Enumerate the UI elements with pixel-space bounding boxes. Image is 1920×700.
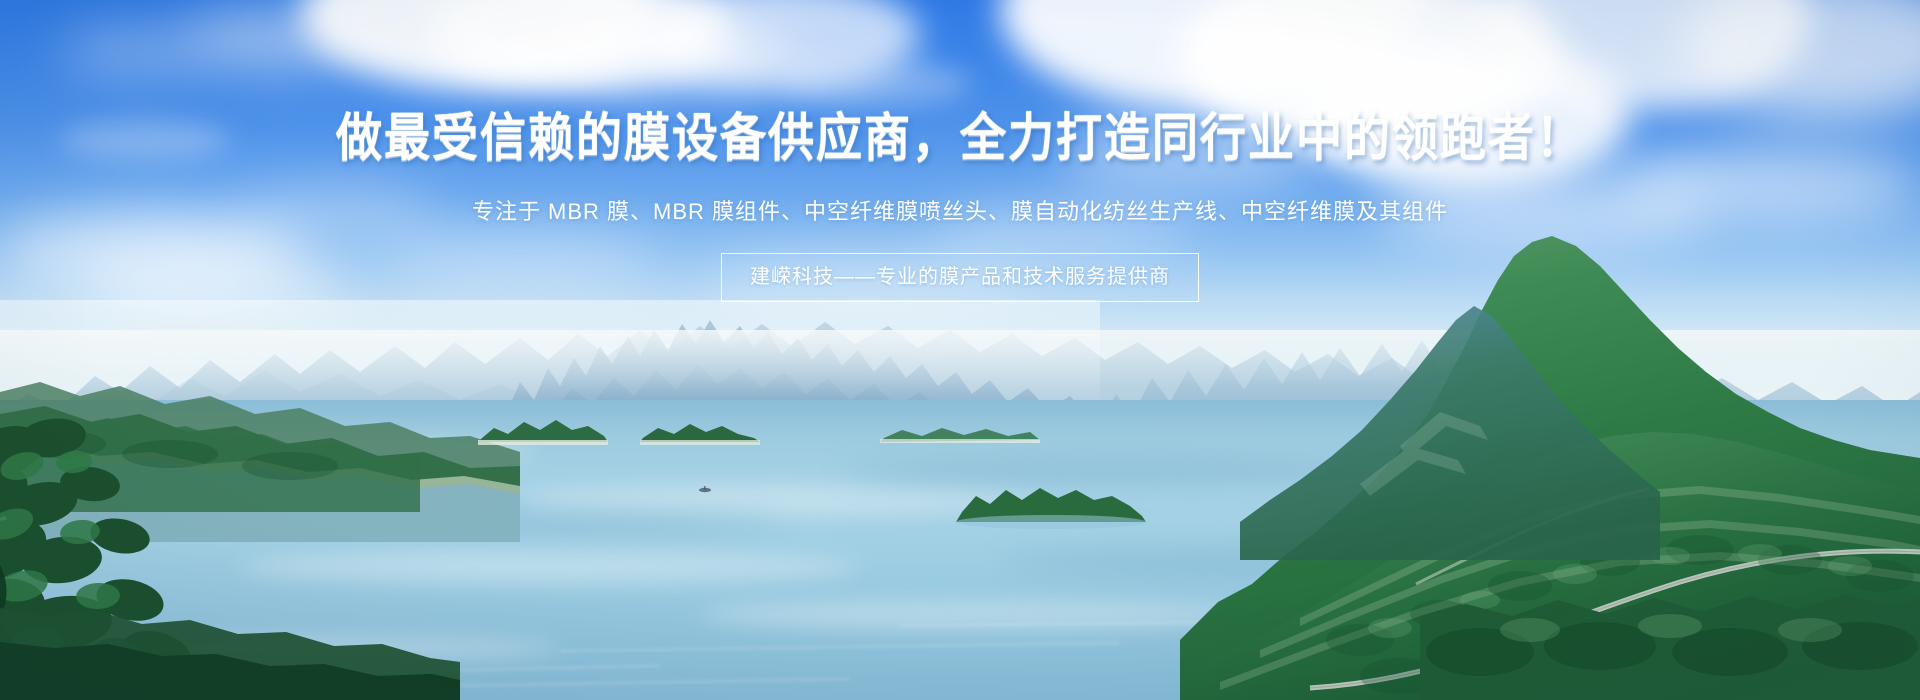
banner-headline: 做最受信赖的膜设备供应商，全力打造同行业中的领跑者！ bbox=[336, 112, 1584, 164]
water-shadow bbox=[840, 460, 1400, 486]
water-glint bbox=[240, 550, 860, 584]
lake-water bbox=[0, 400, 1920, 700]
banner-subtitle: 专注于 MBR 膜、MBR 膜组件、中空纤维膜喷丝头、膜自动化纺丝生产线、中空纤… bbox=[472, 198, 1448, 227]
water-ripple bbox=[560, 642, 1120, 652]
water-ripple bbox=[150, 678, 850, 692]
tagline-box: 建嵘科技——专业的膜产品和技术服务提供商 bbox=[721, 253, 1199, 302]
water-shadow bbox=[300, 512, 780, 532]
water-glint bbox=[120, 440, 540, 464]
water-glint bbox=[60, 636, 560, 662]
water-ripple bbox=[40, 664, 660, 681]
hero-banner: 做最受信赖的膜设备供应商，全力打造同行业中的领跑者！ 专注于 MBR 膜、MBR… bbox=[0, 0, 1920, 700]
banner-tagline: 建嵘科技——专业的膜产品和技术服务提供商 bbox=[750, 265, 1170, 289]
water-shadow bbox=[1000, 550, 1520, 574]
